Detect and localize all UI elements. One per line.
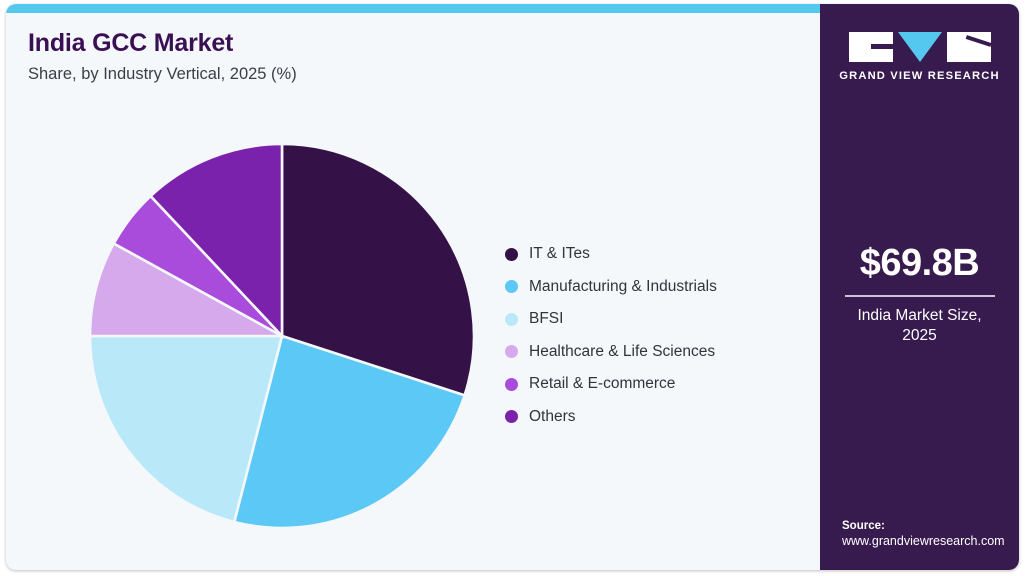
legend-item[interactable]: Others: [505, 401, 717, 434]
legend-item[interactable]: Retail & E-commerce: [505, 368, 717, 401]
side-panel: GRAND VIEW RESEARCH $69.8B India Market …: [820, 4, 1019, 570]
market-size-stat: $69.8B India Market Size, 2025: [820, 242, 1019, 347]
logo-text: GRAND VIEW RESEARCH: [820, 70, 1019, 82]
legend-label: Healthcare & Life Sciences: [529, 343, 715, 361]
logo-r-icon: [947, 32, 991, 62]
logo-marks: [820, 32, 1019, 62]
legend-label: IT & ITes: [529, 245, 590, 263]
pie-chart-svg: [82, 136, 482, 536]
chart-header: India GCC Market Share, by Industry Vert…: [28, 30, 768, 84]
pie-chart: [82, 136, 482, 536]
legend-item[interactable]: IT & ITes: [505, 238, 717, 271]
legend-item[interactable]: Healthcare & Life Sciences: [505, 336, 717, 369]
legend-label: Others: [529, 408, 576, 426]
source-label: Source:: [842, 520, 1011, 532]
chart-legend: IT & ITesManufacturing & IndustrialsBFSI…: [505, 238, 717, 433]
legend-label: Retail & E-commerce: [529, 375, 675, 393]
stat-caption: India Market Size, 2025: [820, 306, 1019, 348]
chart-subtitle: Share, by Industry Vertical, 2025 (%): [28, 65, 768, 85]
legend-color-swatch-icon: [505, 410, 518, 423]
legend-color-swatch-icon: [505, 280, 518, 293]
legend-label: Manufacturing & Industrials: [529, 278, 717, 296]
logo-v-triangle-icon: [898, 32, 942, 62]
legend-item[interactable]: Manufacturing & Industrials: [505, 271, 717, 304]
chart-card: India GCC Market Share, by Industry Vert…: [6, 4, 1019, 570]
legend-color-swatch-icon: [505, 313, 518, 326]
stat-value: $69.8B: [820, 242, 1019, 285]
stat-divider: [845, 295, 995, 297]
source-url[interactable]: www.grandviewresearch.com: [842, 534, 1011, 548]
page-title: India GCC Market: [28, 30, 768, 58]
source-block: Source: www.grandviewresearch.com: [842, 520, 1011, 548]
legend-color-swatch-icon: [505, 378, 518, 391]
brand-logo: GRAND VIEW RESEARCH: [820, 32, 1019, 82]
legend-color-swatch-icon: [505, 345, 518, 358]
legend-item[interactable]: BFSI: [505, 303, 717, 336]
logo-g-icon: [849, 32, 893, 62]
legend-color-swatch-icon: [505, 248, 518, 261]
legend-label: BFSI: [529, 310, 563, 328]
